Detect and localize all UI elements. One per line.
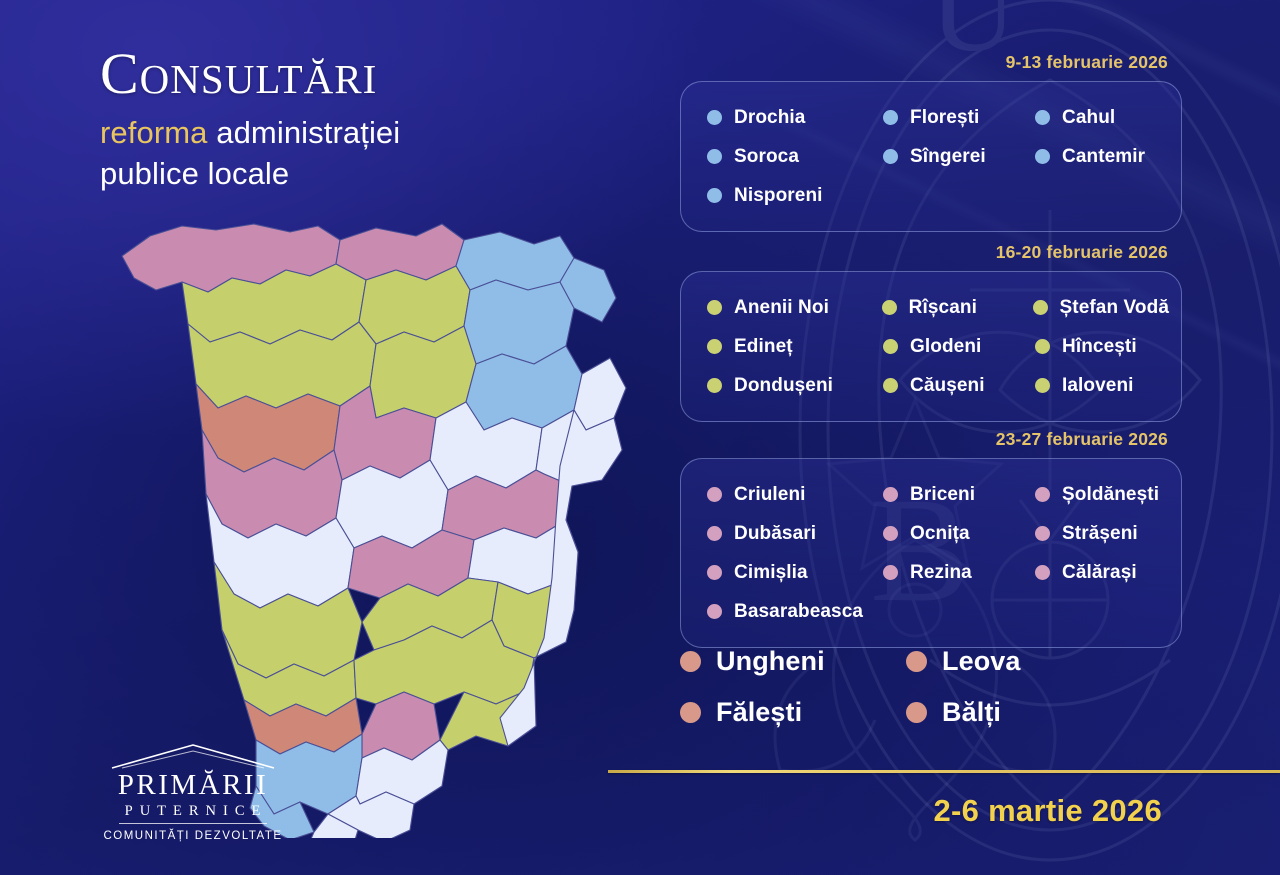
locality-label: Căușeni — [910, 375, 985, 397]
locality-label: Cimișlia — [734, 562, 808, 584]
bullet-dot-icon — [1035, 149, 1050, 164]
list-item[interactable]: Nisporeni — [707, 176, 883, 215]
list-item[interactable]: Cahul — [1035, 98, 1115, 137]
locality-label: Dubăsari — [734, 523, 816, 545]
bullet-dot-icon — [883, 487, 898, 502]
pediment-roof-icon — [108, 742, 278, 770]
bullet-dot-icon — [1035, 110, 1050, 125]
schedule-group-1: 9-13 februarie 2026 Drochia Florești Cah… — [680, 52, 1182, 232]
logo-line-3: COMUNITĂȚI DEZVOLTATE — [88, 830, 298, 842]
list-item[interactable]: Dubăsari — [707, 514, 883, 553]
locality-label: Florești — [910, 107, 979, 129]
table-row: Cimișlia Rezina Călărași — [707, 553, 1169, 592]
locality-label: Strășeni — [1062, 523, 1138, 545]
list-item[interactable]: Sîngerei — [883, 137, 1035, 176]
locality-label: Sîngerei — [910, 146, 986, 168]
list-item[interactable]: Căușeni — [883, 366, 1035, 405]
final-group-rows: Ungheni Leova Fălești Bălți — [680, 636, 1182, 738]
locality-label: Șoldănești — [1062, 484, 1159, 506]
table-row: Basarabeasca — [707, 592, 1169, 631]
bullet-dot-icon — [883, 526, 898, 541]
list-item[interactable]: Ialoveni — [1035, 366, 1134, 405]
page-subtitle: reforma administrației publice locale — [100, 113, 660, 195]
locality-label: Criuleni — [734, 484, 806, 506]
table-row: Dubăsari Ocnița Strășeni — [707, 514, 1169, 553]
bullet-dot-icon — [883, 378, 898, 393]
list-item[interactable]: Briceni — [883, 475, 1035, 514]
list-item[interactable]: Florești — [883, 98, 1035, 137]
locality-label: Leova — [942, 646, 1021, 677]
bullet-dot-icon — [707, 188, 722, 203]
bullet-dot-icon — [680, 651, 701, 672]
list-item[interactable]: Șoldănești — [1035, 475, 1159, 514]
subtitle-accent-word: reforma — [100, 115, 208, 150]
locality-label: Basarabeasca — [734, 601, 863, 623]
bullet-dot-icon — [1033, 300, 1048, 315]
schedule-group-2: 16-20 februarie 2026 Anenii Noi Rîșcani … — [680, 242, 1182, 422]
bullet-dot-icon — [1035, 339, 1050, 354]
list-item[interactable]: Rîșcani — [882, 288, 1033, 327]
bullet-dot-icon — [883, 110, 898, 125]
bullet-dot-icon — [707, 378, 722, 393]
bullet-dot-icon — [1035, 526, 1050, 541]
locality-label: Călărași — [1062, 562, 1137, 584]
schedule-group-3: 23-27 februarie 2026 Criuleni Briceni Șo… — [680, 429, 1182, 648]
bullet-dot-icon — [1035, 565, 1050, 580]
table-row: Nisporeni — [707, 176, 1169, 215]
list-item[interactable]: Hîncești — [1035, 327, 1137, 366]
group-2-date: 16-20 februarie 2026 — [680, 242, 1182, 263]
group-3-date: 23-27 februarie 2026 — [680, 429, 1182, 450]
list-item[interactable]: Edineț — [707, 327, 883, 366]
bullet-dot-icon — [883, 149, 898, 164]
table-row: Dondușeni Căușeni Ialoveni — [707, 366, 1169, 405]
bullet-dot-icon — [707, 526, 722, 541]
list-item[interactable]: Glodeni — [883, 327, 1035, 366]
logo-line-1: PRIMĂRII — [88, 771, 298, 800]
group-1-card: Drochia Florești Cahul Soroca Sîngerei C… — [680, 81, 1182, 232]
schedule-group-final: Ungheni Leova Fălești Bălți — [680, 636, 1182, 738]
list-item[interactable]: Călărași — [1035, 553, 1137, 592]
locality-label: Ștefan Vodă — [1060, 297, 1170, 319]
locality-label: Edineț — [734, 336, 793, 358]
list-item[interactable]: Ocnița — [883, 514, 1035, 553]
bullet-dot-icon — [707, 339, 722, 354]
final-date-label: 2-6 martie 2026 — [933, 793, 1162, 829]
table-row: Anenii Noi Rîșcani Ștefan Vodă — [707, 288, 1169, 327]
list-item[interactable]: Drochia — [707, 98, 883, 137]
headline-block: Consultări reforma administrației public… — [100, 44, 660, 195]
list-item[interactable]: Strășeni — [1035, 514, 1138, 553]
list-item[interactable]: Ștefan Vodă — [1033, 288, 1170, 327]
bullet-dot-icon — [707, 300, 722, 315]
bullet-dot-icon — [882, 300, 897, 315]
list-item[interactable]: Anenii Noi — [707, 288, 882, 327]
bullet-dot-icon — [883, 339, 898, 354]
subtitle-rest: administrației — [208, 115, 401, 150]
locality-label: Bălți — [942, 697, 1001, 728]
schedule-column: 9-13 februarie 2026 Drochia Florești Cah… — [660, 0, 1280, 875]
primarii-puternice-logo: PRIMĂRII PUTERNICE COMUNITĂȚI DEZVOLTATE — [88, 742, 298, 842]
bullet-dot-icon — [883, 565, 898, 580]
locality-label: Rezina — [910, 562, 972, 584]
locality-label: Cahul — [1062, 107, 1115, 129]
bullet-dot-icon — [1035, 487, 1050, 502]
bullet-dot-icon — [707, 149, 722, 164]
locality-label: Soroca — [734, 146, 799, 168]
locality-label: Ocnița — [910, 523, 970, 545]
locality-label: Hîncești — [1062, 336, 1137, 358]
table-row: Soroca Sîngerei Cantemir — [707, 137, 1169, 176]
bullet-dot-icon — [707, 604, 722, 619]
locality-label: Briceni — [910, 484, 975, 506]
bullet-dot-icon — [707, 487, 722, 502]
table-row: Criuleni Briceni Șoldănești — [707, 475, 1169, 514]
list-item[interactable]: Soroca — [707, 137, 883, 176]
locality-label: Dondușeni — [734, 375, 833, 397]
locality-label: Cantemir — [1062, 146, 1145, 168]
page-title: Consultări — [100, 44, 660, 103]
locality-label: Drochia — [734, 107, 805, 129]
locality-label: Glodeni — [910, 336, 981, 358]
group-1-date: 9-13 februarie 2026 — [680, 52, 1182, 73]
logo-line-2: PUTERNICE — [119, 804, 268, 824]
list-item[interactable]: Rezina — [883, 553, 1035, 592]
bullet-dot-icon — [680, 702, 701, 723]
list-item[interactable]: Fălești — [680, 687, 906, 738]
group-3-rows: Criuleni Briceni Șoldănești Dubăsari Ocn… — [707, 475, 1169, 631]
table-row: Drochia Florești Cahul — [707, 98, 1169, 137]
locality-label: Ialoveni — [1062, 375, 1134, 397]
group-1-rows: Drochia Florești Cahul Soroca Sîngerei C… — [707, 98, 1169, 215]
bullet-dot-icon — [707, 110, 722, 125]
group-2-rows: Anenii Noi Rîșcani Ștefan Vodă Edineț Gl… — [707, 288, 1169, 405]
bullet-dot-icon — [1035, 378, 1050, 393]
table-row: Ungheni Leova — [680, 636, 1182, 687]
locality-label: Ungheni — [716, 646, 825, 677]
list-item[interactable]: Leova — [906, 636, 1021, 687]
list-item[interactable]: Cimișlia — [707, 553, 883, 592]
list-item[interactable]: Criuleni — [707, 475, 883, 514]
gold-divider — [608, 770, 1280, 773]
locality-label: Fălești — [716, 697, 802, 728]
group-3-card: Criuleni Briceni Șoldănești Dubăsari Ocn… — [680, 458, 1182, 648]
locality-label: Rîșcani — [909, 297, 977, 319]
bullet-dot-icon — [906, 651, 927, 672]
group-2-card: Anenii Noi Rîșcani Ștefan Vodă Edineț Gl… — [680, 271, 1182, 422]
table-row: Fălești Bălți — [680, 687, 1182, 738]
table-row: Edineț Glodeni Hîncești — [707, 327, 1169, 366]
list-item[interactable]: Dondușeni — [707, 366, 883, 405]
list-item[interactable]: Basarabeasca — [707, 592, 883, 631]
list-item[interactable]: Ungheni — [680, 636, 906, 687]
bullet-dot-icon — [906, 702, 927, 723]
bullet-dot-icon — [707, 565, 722, 580]
locality-label: Anenii Noi — [734, 297, 829, 319]
locality-label: Nisporeni — [734, 185, 823, 207]
list-item[interactable]: Cantemir — [1035, 137, 1145, 176]
list-item[interactable]: Bălți — [906, 687, 1001, 738]
subtitle-line2: publice locale — [100, 156, 289, 191]
